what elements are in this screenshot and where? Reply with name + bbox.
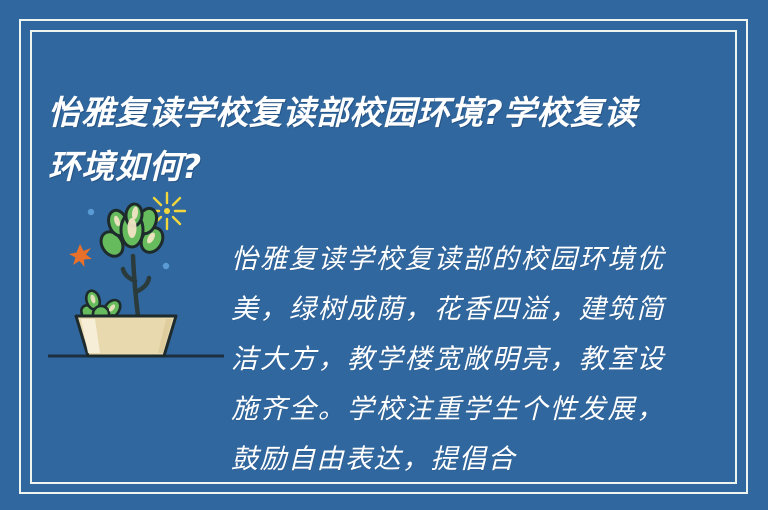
- plant-pot: [76, 316, 176, 356]
- potted-plant-illustration: [48, 188, 224, 374]
- article-card: 怡雅复读学校复读部校园环境?学校复读环境如何?: [0, 0, 768, 510]
- article-body: 怡雅复读学校复读部的校园环境优美，绿树成荫，花香四溢，建筑简洁大方，教学楼宽敞明…: [231, 235, 665, 485]
- sparkle-orange-icon: [69, 244, 92, 267]
- page-title: 怡雅复读学校复读部校园环境?学校复读环境如何?: [48, 86, 668, 194]
- dot-blue-right: [163, 263, 169, 269]
- dot-blue-small: [88, 209, 94, 215]
- plant-stem: [123, 256, 149, 316]
